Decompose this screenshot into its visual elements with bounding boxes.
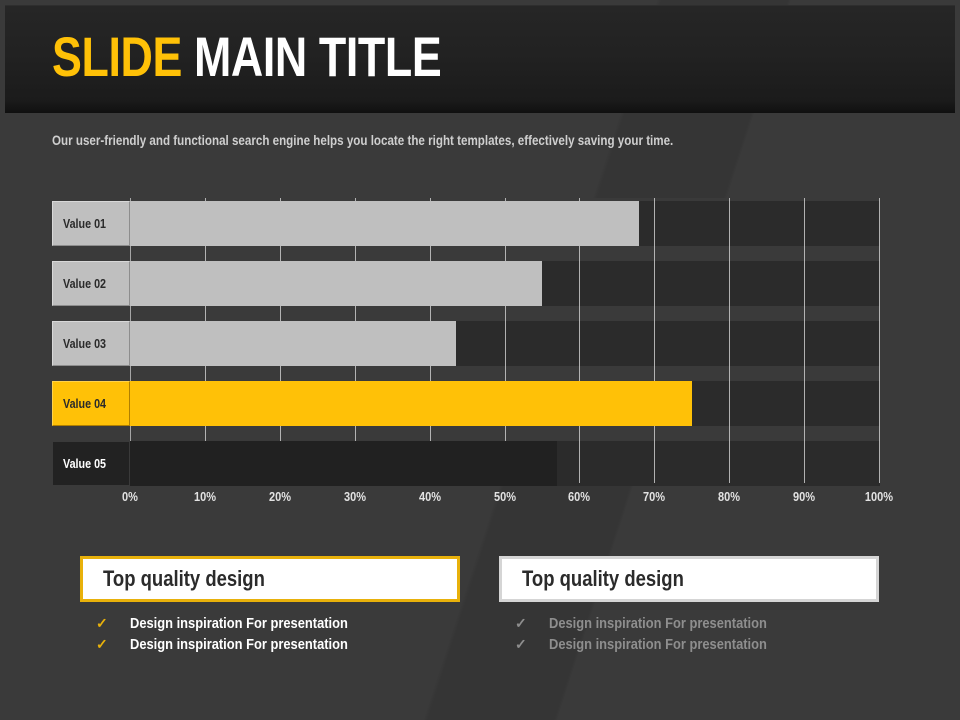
- bar-label-text: Value 03: [63, 337, 106, 351]
- x-tick-label: 0%: [122, 490, 138, 504]
- list-item-label: Design inspiration For presentation: [549, 615, 767, 632]
- page-title: SLIDE MAIN TITLE: [52, 29, 441, 85]
- list-item: ✓Design inspiration For presentation: [515, 615, 802, 636]
- slide-canvas: SLIDE MAIN TITLE Our user-friendly and f…: [0, 0, 960, 720]
- list-item-label: Design inspiration For presentation: [130, 636, 348, 653]
- x-tick-label: 80%: [718, 490, 740, 504]
- bar-label-4: Value 04: [52, 381, 130, 426]
- x-tick-80: 80%: [717, 490, 742, 504]
- bar-label-5: Value 05: [52, 441, 130, 486]
- x-tick-90: 90%: [792, 490, 817, 504]
- x-tick-label: 60%: [568, 490, 590, 504]
- bar-fill-3: [130, 321, 456, 366]
- bar-fill-5: [130, 441, 557, 486]
- bar-label-2: Value 02: [52, 261, 130, 306]
- bar-label-text: Value 05: [63, 457, 106, 471]
- x-tick-label: 30%: [344, 490, 366, 504]
- x-tick-10: 10%: [192, 490, 217, 504]
- list-item: ✓Design inspiration For presentation: [515, 636, 802, 657]
- x-tick-label: 50%: [493, 490, 515, 504]
- list-item: ✓Design inspiration For presentation: [96, 615, 383, 636]
- bar-label-3: Value 03: [52, 321, 130, 366]
- card-right-bullets: ✓Design inspiration For presentation✓Des…: [515, 615, 802, 657]
- bar-label-text: Value 02: [63, 277, 106, 291]
- bar-label-text: Value 01: [63, 217, 106, 231]
- x-tick-label: 90%: [793, 490, 815, 504]
- x-tick-0: 0%: [121, 490, 139, 504]
- page-title-main: MAIN TITLE: [194, 25, 441, 88]
- gridline-70: [654, 198, 655, 483]
- x-tick-label: 100%: [865, 490, 893, 504]
- card-left[interactable]: Top quality design: [80, 556, 460, 602]
- card-left-title: Top quality design: [103, 566, 265, 592]
- check-icon: ✓: [515, 615, 549, 632]
- bar-label-1: Value 01: [52, 201, 130, 246]
- x-tick-50: 50%: [492, 490, 517, 504]
- x-tick-60: 60%: [567, 490, 592, 504]
- check-icon: ✓: [96, 636, 130, 653]
- x-tick-label: 10%: [194, 490, 216, 504]
- gridline-100: [879, 198, 880, 483]
- card-right[interactable]: Top quality design: [499, 556, 879, 602]
- card-left-bullets: ✓Design inspiration For presentation✓Des…: [96, 615, 383, 657]
- gridline-80: [729, 198, 730, 483]
- page-subtitle: Our user-friendly and functional search …: [52, 133, 673, 148]
- check-icon: ✓: [96, 615, 130, 632]
- x-tick-100: 100%: [863, 490, 895, 504]
- bar-fill-4: [130, 381, 692, 426]
- list-item-label: Design inspiration For presentation: [130, 615, 348, 632]
- gridline-90: [804, 198, 805, 483]
- check-icon: ✓: [515, 636, 549, 653]
- x-tick-label: 20%: [269, 490, 291, 504]
- horizontal-bar-chart: Value 01Value 02Value 03Value 04Value 05: [52, 198, 880, 483]
- bar-fill-1: [130, 201, 639, 246]
- x-tick-20: 20%: [267, 490, 292, 504]
- x-tick-30: 30%: [342, 490, 367, 504]
- x-tick-70: 70%: [642, 490, 667, 504]
- page-title-accent: SLIDE: [52, 25, 182, 88]
- x-tick-40: 40%: [417, 490, 442, 504]
- bar-fill-2: [130, 261, 542, 306]
- x-tick-label: 40%: [419, 490, 441, 504]
- bar-label-text: Value 04: [63, 397, 106, 411]
- list-item: ✓Design inspiration For presentation: [96, 636, 383, 657]
- x-axis-tick-labels: 0%10%20%30%40%50%60%70%80%90%100%: [130, 490, 879, 510]
- card-right-title: Top quality design: [522, 566, 684, 592]
- x-tick-label: 70%: [643, 490, 665, 504]
- list-item-label: Design inspiration For presentation: [549, 636, 767, 653]
